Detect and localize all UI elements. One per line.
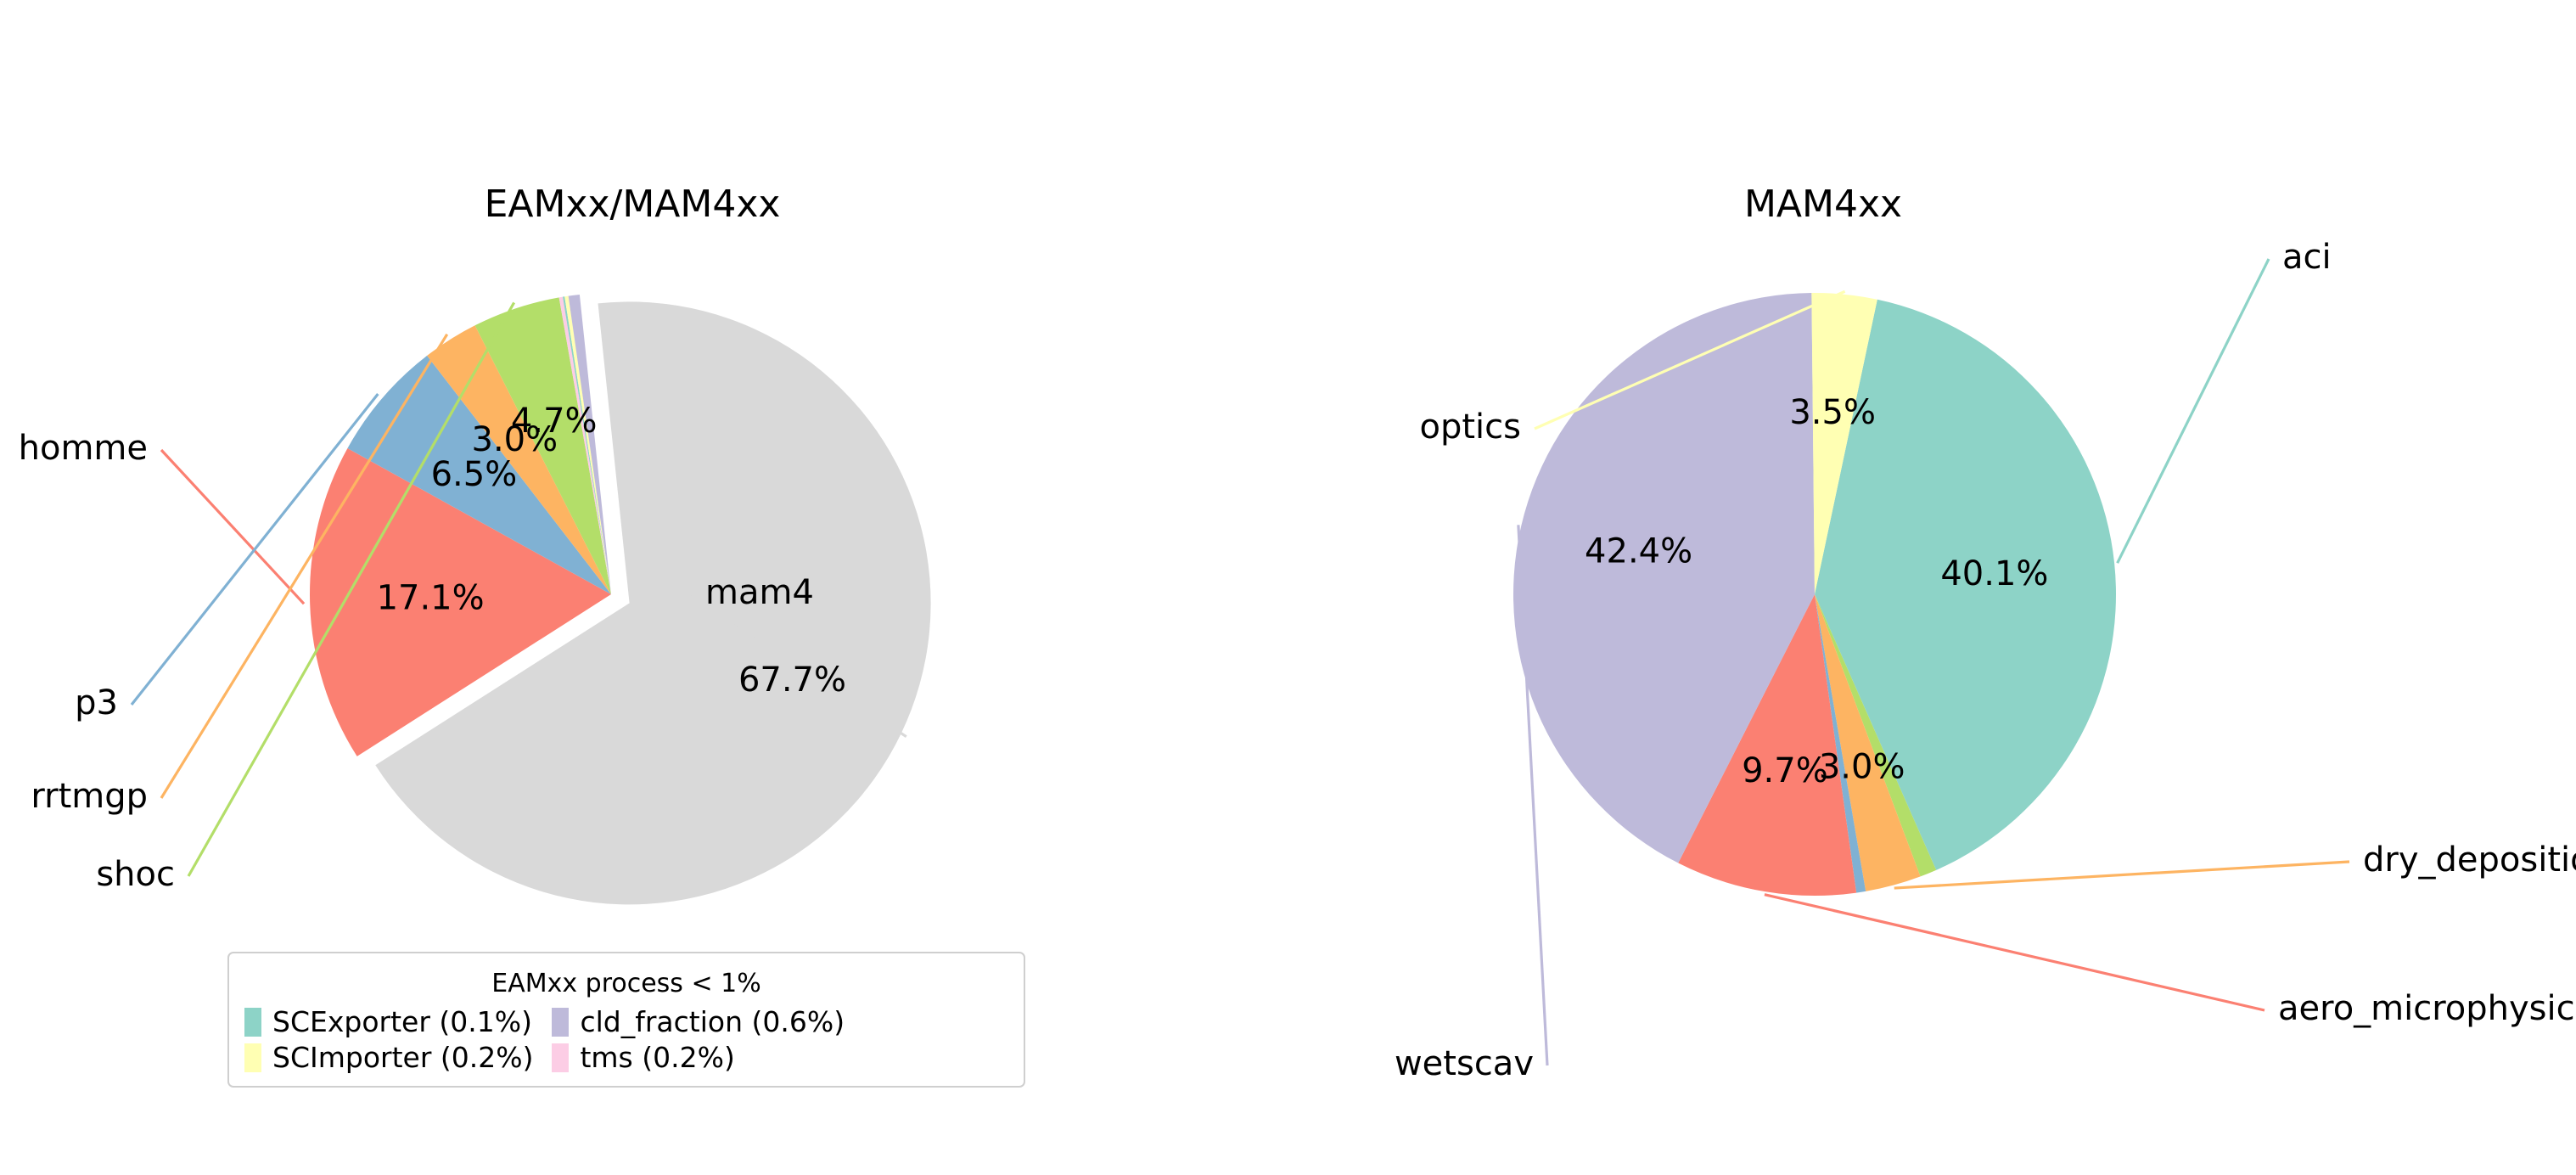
leader-line-aci (2118, 259, 2269, 563)
left-chart-title: EAMxx/MAM4xx (485, 183, 781, 226)
legend-eamxx-small-processes: EAMxx process < 1% SCExporter (0.1%)cld_… (227, 952, 1025, 1088)
percent-label-aci: 40.1% (1940, 554, 2048, 593)
legend-item-label: cld_fraction (0.6%) (580, 1007, 845, 1037)
slice-name-mam4: mam4 (705, 573, 814, 612)
leader-line-homme (161, 450, 304, 604)
slice-name-dry_deposition: dry_deposition (2363, 840, 2576, 880)
percent-label-aero_microphysics: 9.7% (1742, 751, 1828, 790)
legend-item-label: tms (0.2%) (580, 1043, 734, 1073)
right-pie-slices[interactable] (1513, 293, 2116, 896)
slice-name-aci: aci (2282, 238, 2332, 277)
percent-label-dry_deposition: 3.0% (1819, 748, 1905, 787)
percent-label-mam4: 67.7% (738, 661, 846, 700)
slice-name-p3: p3 (75, 683, 118, 722)
slice-name-optics: optics (1420, 408, 1522, 447)
leader-line-aero_microphysics (1765, 895, 2265, 1010)
leader-line-dry_deposition (1894, 862, 2349, 888)
percent-label-shoc: 4.7% (511, 402, 598, 441)
legend-item: SCImporter (0.2%) (244, 1043, 533, 1073)
legend-title-eamxx: EAMxx process < 1% (244, 969, 1008, 998)
legend-item-label: SCImporter (0.2%) (272, 1043, 533, 1073)
legend-item: SCExporter (0.1%) (244, 1007, 533, 1037)
legend-item: tms (0.2%) (552, 1043, 845, 1073)
slice-name-aero_microphysics: aero_microphysics (2278, 989, 2576, 1028)
percent-label-optics: 3.5% (1789, 393, 1876, 432)
legend-item: cld_fraction (0.6%) (552, 1007, 845, 1037)
slice-name-rrtmgp: rrtmgp (31, 777, 148, 816)
legend-color-swatch (552, 1043, 569, 1072)
legend-entries-eamxx: SCExporter (0.1%)cld_fraction (0.6%)SCIm… (244, 1007, 1008, 1074)
slice-name-wetscav: wetscav (1395, 1044, 1534, 1083)
slice-name-shoc: shoc (96, 855, 175, 894)
figure-canvas: EAMxx/MAM4xx 67.7%17.1%6.5%3.0%4.7% mam4… (0, 0, 2576, 1175)
legend-color-swatch (244, 1043, 261, 1072)
pie-panel-eamxx: EAMxx/MAM4xx 67.7%17.1%6.5%3.0%4.7% mam4… (0, 0, 1288, 1175)
percent-label-wetscav: 42.4% (1585, 531, 1692, 571)
legend-color-swatch (552, 1008, 569, 1037)
slice-name-homme: homme (19, 429, 148, 468)
legend-color-swatch (244, 1008, 261, 1037)
pie-panel-mam4xx: MAM4xx 40.1%3.0%9.7%42.4%3.5% acidry_dep… (1288, 0, 2576, 1175)
right-chart-title: MAM4xx (1744, 183, 1902, 226)
legend-item-label: SCExporter (0.1%) (272, 1007, 532, 1037)
mam4xx-pie-svg: MAM4xx 40.1%3.0%9.7%42.4%3.5% acidry_dep… (1288, 0, 2576, 1175)
percent-label-p3: 6.5% (431, 455, 518, 494)
percent-label-homme: 17.1% (377, 579, 485, 618)
